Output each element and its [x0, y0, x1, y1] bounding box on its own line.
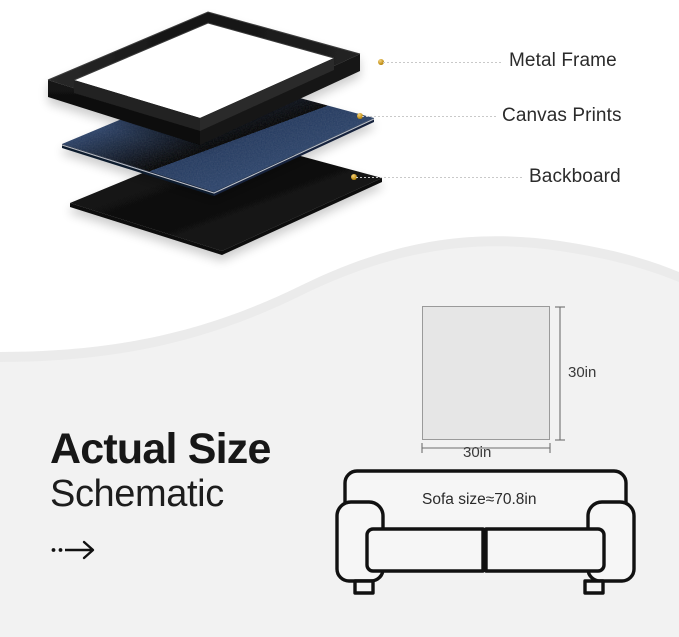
- dotted-arrow-right-icon: [50, 537, 110, 563]
- sofa-size-label: Sofa size≈70.8in: [422, 491, 537, 509]
- actual-size-title: Actual Size: [50, 428, 271, 472]
- sofa-illustration: [333, 457, 638, 597]
- leader-line-metal-frame: [383, 62, 501, 63]
- actual-size-block: Actual Size Schematic: [50, 428, 271, 568]
- infographic-page: Metal Frame Canvas Prints Backboard Actu…: [0, 0, 679, 637]
- callout-label-backboard: Backboard: [529, 166, 621, 188]
- exploded-product-diagram: [0, 0, 420, 275]
- leader-line-canvas-prints: [362, 116, 496, 117]
- artwork-height-label: 30in: [568, 364, 596, 381]
- callout-label-metal-frame: Metal Frame: [509, 50, 617, 72]
- actual-size-subtitle: Schematic: [50, 474, 271, 515]
- callout-label-canvas-prints: Canvas Prints: [502, 105, 622, 127]
- artwork-size-schematic: 30in 30in: [405, 296, 620, 456]
- leader-line-backboard: [356, 177, 522, 178]
